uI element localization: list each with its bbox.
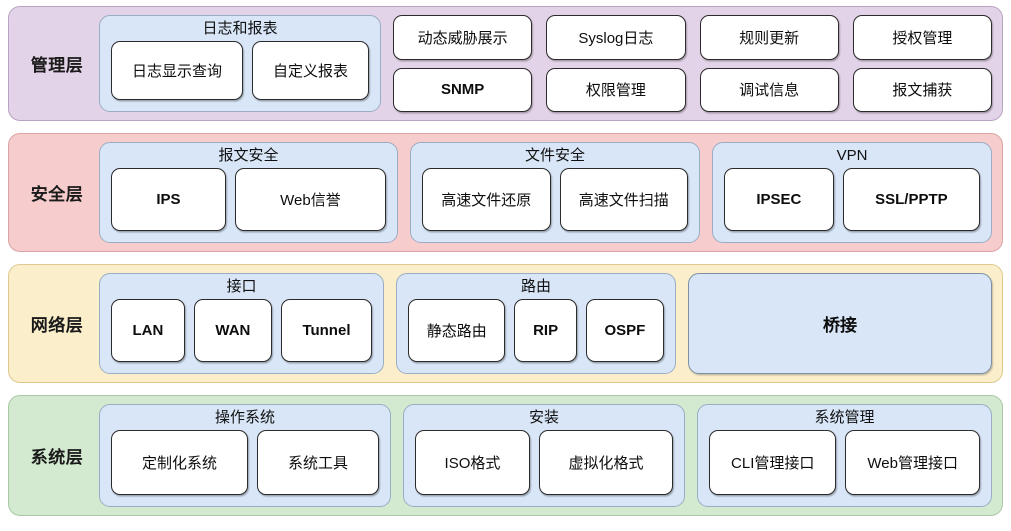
group-items-installation: ISO格式 虚拟化格式 [415,430,673,495]
group-installation: 安装 ISO格式 虚拟化格式 [403,404,685,507]
card-web-reputation[interactable]: Web信誉 [235,168,386,231]
layer-security: 安全层 报文安全 IPS Web信誉 文件安全 高速文件还原 高速文件扫描 VP… [8,133,1003,252]
group-items-file-security: 高速文件还原 高速文件扫描 [422,168,688,231]
card-debug-info[interactable]: 调试信息 [700,68,839,113]
group-items-interface: LAN WAN Tunnel [111,299,372,362]
layer-title-system: 系统层 [15,404,99,507]
card-ipsec[interactable]: IPSEC [724,168,834,231]
management-standalone-grid: 动态威胁展示 Syslog日志 规则更新 授权管理 SNMP 权限管理 调试信息… [393,15,992,112]
card-ips[interactable]: IPS [111,168,226,231]
card-syslog[interactable]: Syslog日志 [546,15,685,60]
group-packet-security: 报文安全 IPS Web信誉 [99,142,398,243]
layer-network: 网络层 接口 LAN WAN Tunnel 路由 静态路由 RIP OSPF 桥… [8,264,1003,383]
card-virtualization-format[interactable]: 虚拟化格式 [539,430,673,495]
card-log-display-query[interactable]: 日志显示查询 [111,41,243,100]
group-routing: 路由 静态路由 RIP OSPF [396,273,676,374]
architecture-diagram: 管理层 日志和报表 日志显示查询 自定义报表 动态威胁展示 Syslog日志 规… [0,0,1011,531]
group-items-system-management: CLI管理接口 Web管理接口 [709,430,980,495]
group-title-vpn: VPN [837,146,868,166]
group-items-vpn: IPSEC SSL/PPTP [724,168,980,231]
card-web-management-interface[interactable]: Web管理接口 [845,430,980,495]
group-title-system-management: 系统管理 [814,408,874,428]
group-items-operating-system: 定制化系统 系统工具 [111,430,379,495]
layer-body-network: 接口 LAN WAN Tunnel 路由 静态路由 RIP OSPF 桥接 [99,273,992,374]
card-cli-management-interface[interactable]: CLI管理接口 [709,430,836,495]
group-items-routing: 静态路由 RIP OSPF [408,299,664,362]
group-title-interface: 接口 [226,277,256,297]
layer-title-network: 网络层 [15,273,99,374]
group-title-log-and-report: 日志和报表 [202,19,277,39]
layer-system: 系统层 操作系统 定制化系统 系统工具 安装 ISO格式 虚拟化格式 系统管理 [8,395,1003,516]
group-title-installation: 安装 [529,408,559,428]
group-log-and-report: 日志和报表 日志显示查询 自定义报表 [99,15,381,112]
block-bridge[interactable]: 桥接 [688,273,992,374]
layer-title-management: 管理层 [15,15,99,112]
card-iso-format[interactable]: ISO格式 [415,430,530,495]
card-dynamic-threat-display[interactable]: 动态威胁展示 [393,15,532,60]
layer-body-management: 日志和报表 日志显示查询 自定义报表 动态威胁展示 Syslog日志 规则更新 … [99,15,992,112]
card-system-tools[interactable]: 系统工具 [257,430,379,495]
group-vpn: VPN IPSEC SSL/PPTP [712,142,992,243]
group-title-operating-system: 操作系统 [215,408,275,428]
group-file-security: 文件安全 高速文件还原 高速文件扫描 [410,142,700,243]
group-title-file-security: 文件安全 [525,146,585,166]
card-custom-report[interactable]: 自定义报表 [252,41,369,100]
card-ssl-pptp[interactable]: SSL/PPTP [843,168,980,231]
layer-body-security: 报文安全 IPS Web信誉 文件安全 高速文件还原 高速文件扫描 VPN IP… [99,142,992,243]
layer-title-security: 安全层 [15,142,99,243]
group-interface: 接口 LAN WAN Tunnel [99,273,384,374]
group-items-packet-security: IPS Web信誉 [111,168,386,231]
group-operating-system: 操作系统 定制化系统 系统工具 [99,404,391,507]
card-permission-management[interactable]: 权限管理 [546,68,685,113]
card-static-route[interactable]: 静态路由 [408,299,505,362]
group-system-management: 系统管理 CLI管理接口 Web管理接口 [697,404,992,507]
card-snmp[interactable]: SNMP [393,68,532,113]
card-lan[interactable]: LAN [111,299,185,362]
group-items-log-and-report: 日志显示查询 自定义报表 [111,41,369,100]
card-packet-capture[interactable]: 报文捕获 [853,68,992,113]
card-customized-system[interactable]: 定制化系统 [111,430,248,495]
card-ospf[interactable]: OSPF [586,299,664,362]
card-rule-update[interactable]: 规则更新 [700,15,839,60]
card-license-management[interactable]: 授权管理 [853,15,992,60]
layer-management: 管理层 日志和报表 日志显示查询 自定义报表 动态威胁展示 Syslog日志 规… [8,6,1003,121]
card-wan[interactable]: WAN [194,299,272,362]
group-title-routing: 路由 [521,277,551,297]
card-tunnel[interactable]: Tunnel [281,299,372,362]
card-fast-file-restore[interactable]: 高速文件还原 [422,168,551,231]
card-fast-file-scan[interactable]: 高速文件扫描 [560,168,689,231]
card-rip[interactable]: RIP [514,299,576,362]
group-title-packet-security: 报文安全 [218,146,278,166]
layer-body-system: 操作系统 定制化系统 系统工具 安装 ISO格式 虚拟化格式 系统管理 CLI管… [99,404,992,507]
